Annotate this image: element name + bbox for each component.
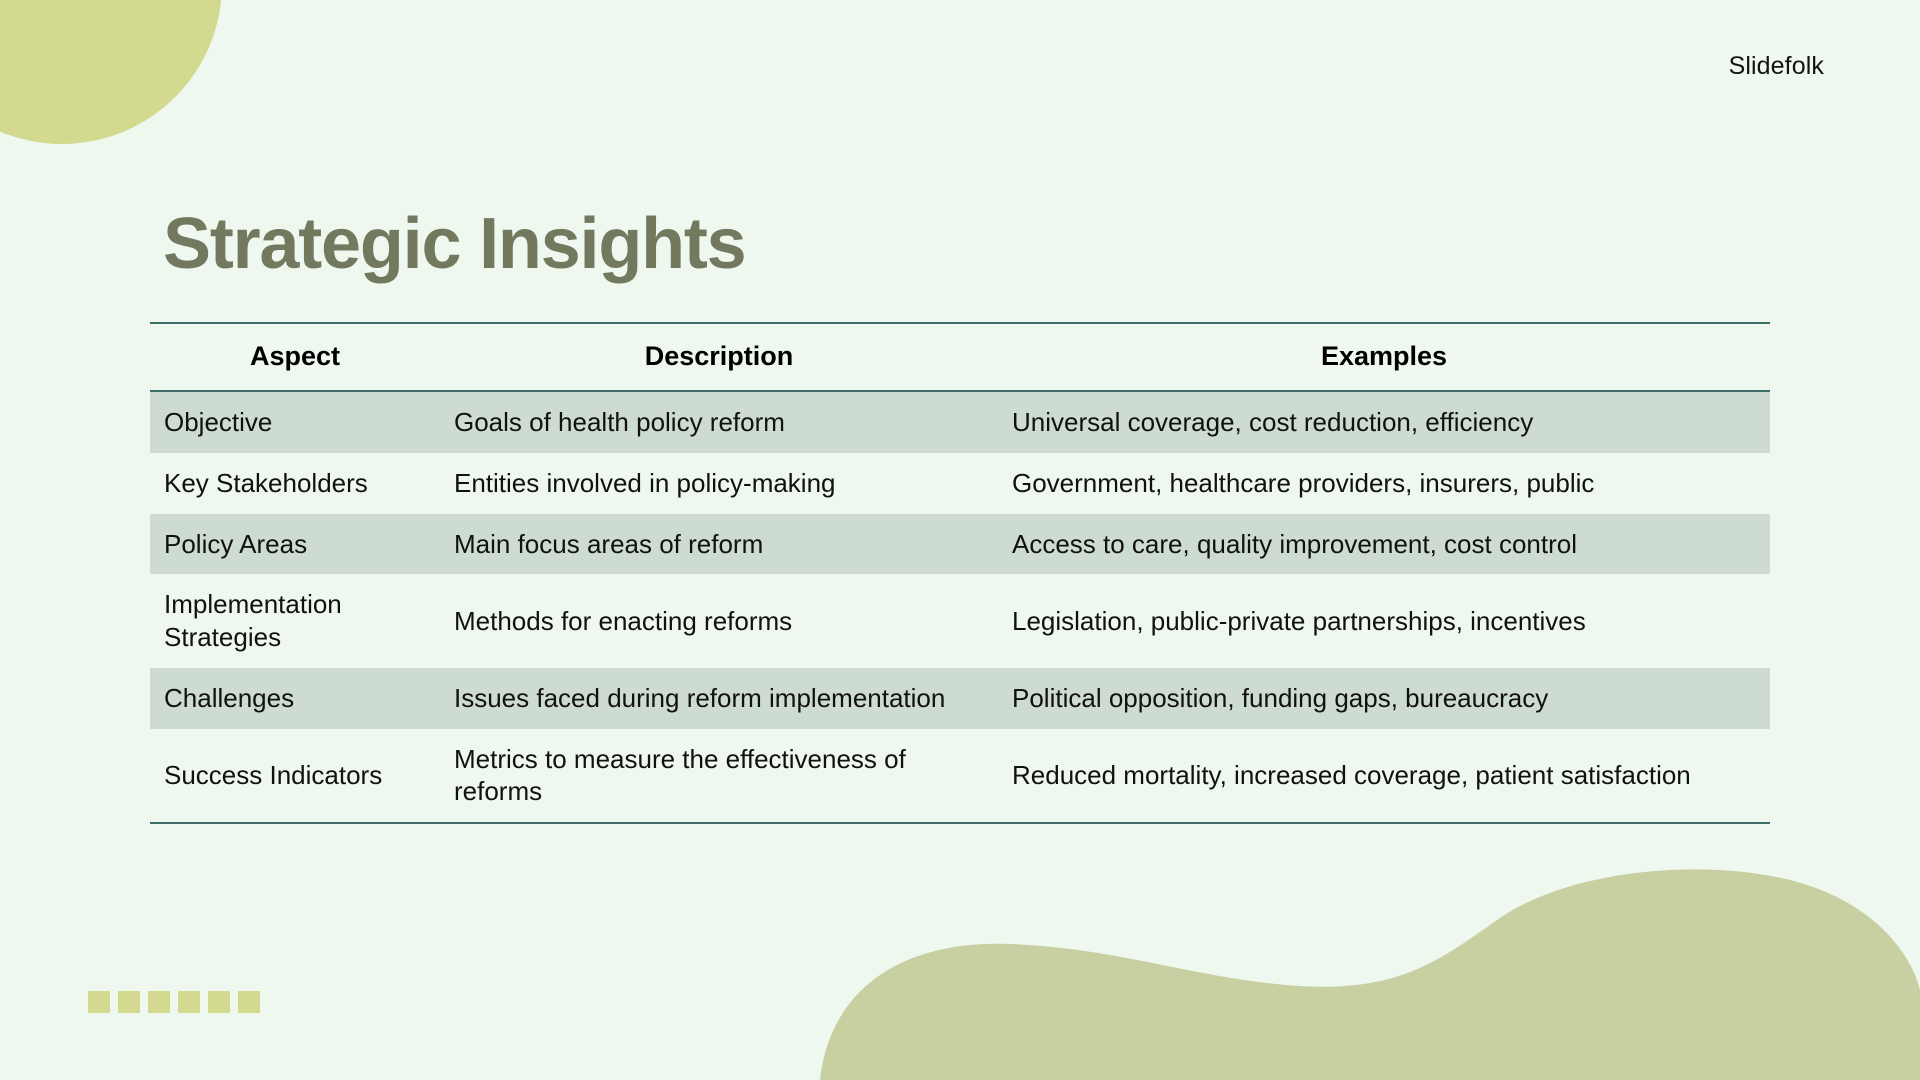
cell-examples: Political opposition, funding gaps, bure… — [998, 668, 1770, 729]
decorative-square — [88, 991, 110, 1013]
decorative-square-dots — [88, 991, 260, 1013]
table-row: ObjectiveGoals of health policy reformUn… — [150, 391, 1770, 453]
cell-description: Issues faced during reform implementatio… — [440, 668, 998, 729]
slide-canvas: Slidefolk Strategic Insights Aspect Desc… — [0, 0, 1920, 1080]
cell-aspect: Implementation Strategies — [150, 574, 440, 668]
table-row: Implementation StrategiesMethods for ena… — [150, 574, 1770, 668]
cell-description: Main focus areas of reform — [440, 514, 998, 575]
column-header-description: Description — [440, 324, 998, 391]
cell-description: Goals of health policy reform — [440, 391, 998, 453]
cell-aspect: Success Indicators — [150, 729, 440, 823]
column-header-examples: Examples — [998, 324, 1770, 391]
decorative-square — [118, 991, 140, 1013]
page-title: Strategic Insights — [163, 208, 746, 280]
insights-table: Aspect Description Examples ObjectiveGoa… — [150, 324, 1770, 822]
cell-examples: Reduced mortality, increased coverage, p… — [998, 729, 1770, 823]
table-bottom-rule — [150, 822, 1770, 824]
decorative-circle-top-left — [0, 0, 222, 144]
cell-description: Methods for enacting reforms — [440, 574, 998, 668]
decorative-square — [238, 991, 260, 1013]
cell-aspect: Policy Areas — [150, 514, 440, 575]
cell-examples: Access to care, quality improvement, cos… — [998, 514, 1770, 575]
brand-logo-text: Slidefolk — [1729, 52, 1824, 81]
cell-aspect: Challenges — [150, 668, 440, 729]
decorative-square — [178, 991, 200, 1013]
table-row: Success IndicatorsMetrics to measure the… — [150, 729, 1770, 823]
table-header-row: Aspect Description Examples — [150, 324, 1770, 391]
table-row: ChallengesIssues faced during reform imp… — [150, 668, 1770, 729]
cell-description: Metrics to measure the effectiveness of … — [440, 729, 998, 823]
insights-table-wrapper: Aspect Description Examples ObjectiveGoa… — [150, 322, 1770, 824]
table-row: Policy AreasMain focus areas of reformAc… — [150, 514, 1770, 575]
decorative-square — [208, 991, 230, 1013]
table-row: Key StakeholdersEntities involved in pol… — [150, 453, 1770, 514]
table-body: ObjectiveGoals of health policy reformUn… — [150, 391, 1770, 822]
cell-description: Entities involved in policy-making — [440, 453, 998, 514]
column-header-aspect: Aspect — [150, 324, 440, 391]
decorative-wave-bottom-right — [0, 840, 1920, 1080]
cell-aspect: Key Stakeholders — [150, 453, 440, 514]
cell-aspect: Objective — [150, 391, 440, 453]
cell-examples: Legislation, public-private partnerships… — [998, 574, 1770, 668]
decorative-square — [148, 991, 170, 1013]
cell-examples: Universal coverage, cost reduction, effi… — [998, 391, 1770, 453]
cell-examples: Government, healthcare providers, insure… — [998, 453, 1770, 514]
